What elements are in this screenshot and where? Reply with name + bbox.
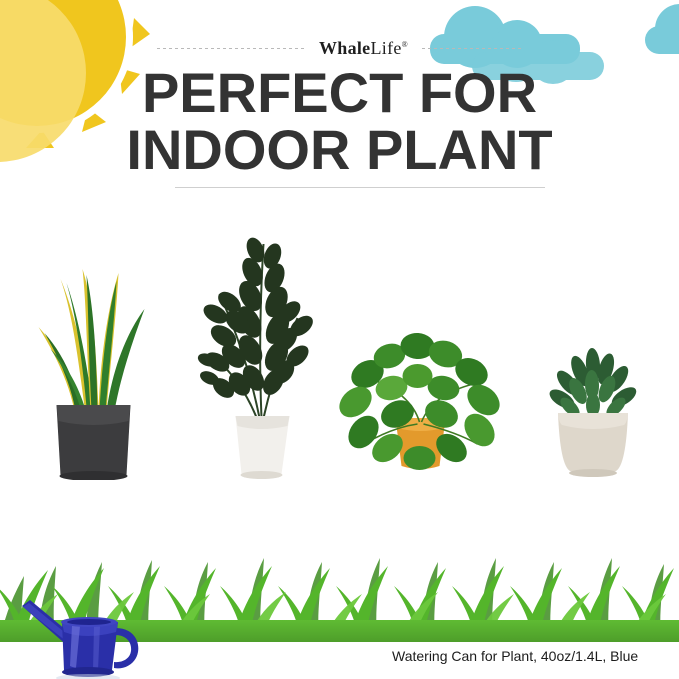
brand-name-bold: Whale — [319, 38, 371, 58]
watering-can-graphic — [20, 592, 170, 679]
brand-logo-row: WhaleLife® — [0, 38, 679, 59]
brand-name-light: Life — [370, 38, 401, 58]
promo-image: WhaleLife® PERFECT FOR INDOOR PLANT — [0, 0, 679, 679]
succulent-art — [528, 325, 658, 480]
zamioculcas-art — [185, 210, 330, 480]
watering-can-icon — [20, 592, 170, 679]
logo-rule-right — [422, 48, 522, 49]
brand-logo: WhaleLife® — [319, 38, 408, 59]
page-title: PERFECT FOR INDOOR PLANT — [0, 64, 679, 178]
snake-plant-art — [20, 235, 165, 480]
plant-item-snake-plant: Snake plant — [20, 235, 165, 480]
plant-item-devils-ivy: Devil's ivy — [333, 310, 508, 480]
headline-line-1: PERFECT FOR — [142, 61, 537, 124]
plant-item-zamioculcas: Zamioculcas — [185, 210, 330, 480]
plant-item-succulent: Succulent — [528, 325, 658, 480]
registered-mark: ® — [402, 40, 408, 49]
product-description: Watering Can for Plant, 40oz/1.4L, Blue — [392, 648, 638, 664]
headline-divider — [175, 187, 545, 188]
devils-ivy-art — [333, 310, 508, 480]
plant-row: Snake plant — [0, 205, 679, 480]
logo-rule-left — [157, 48, 305, 49]
headline-line-2: INDOOR PLANT — [0, 121, 679, 178]
